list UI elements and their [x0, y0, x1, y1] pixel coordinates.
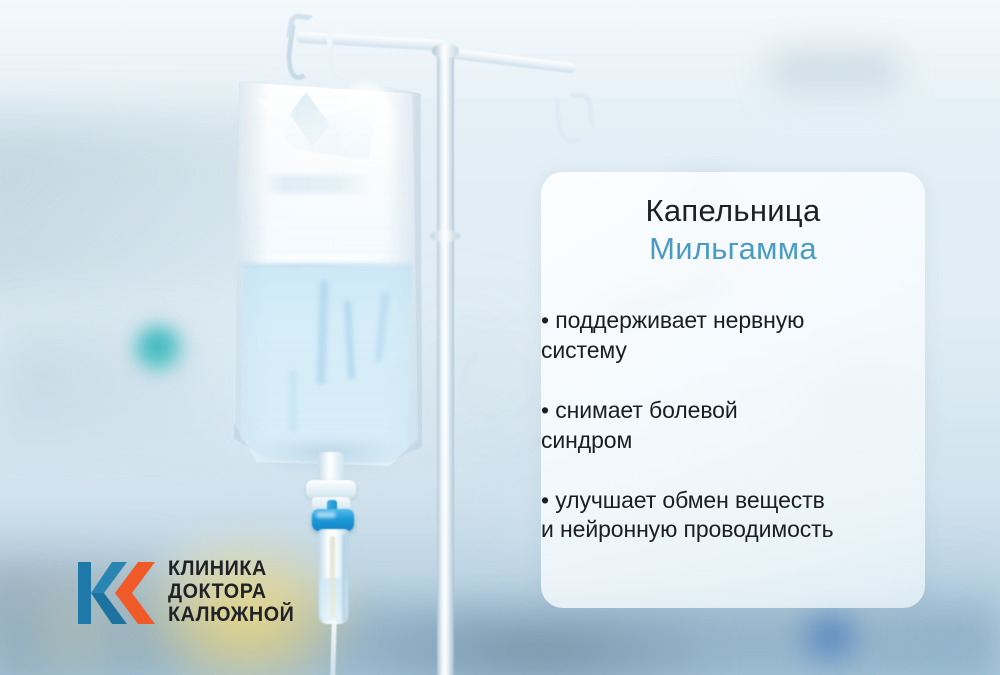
drip-chamber-edge [342, 534, 346, 622]
background-equipment-top-right [770, 55, 900, 97]
card-title-drug-name: Мильгамма [541, 230, 925, 268]
promo-banner: Капельница Мильгамма • поддерживает нерв… [0, 0, 1000, 675]
background-panel-left-lower [0, 330, 210, 440]
background-shadow-bottom [380, 618, 700, 675]
clinic-logo-text: КЛИНИКА ДОКТОРА КАЛЮЖНОЙ [168, 558, 302, 627]
iv-bag-fluid-streak [290, 370, 296, 432]
benefit-list: • поддерживает нервную систему • снимает… [541, 306, 939, 545]
drip-chamber-inner-tube [330, 536, 335, 618]
card-heading: Капельница Мильгамма [541, 192, 925, 269]
iv-bag-seam [248, 255, 408, 261]
list-item: • снимает болевой синдром [541, 396, 939, 456]
kk-monogram-icon [78, 560, 156, 626]
iv-bag-embossed-label [262, 175, 372, 193]
card-title-primary: Капельница [541, 192, 925, 230]
logo-line-1: КЛИНИКА [168, 558, 294, 579]
drip-chamber-cap-highlight [316, 512, 336, 518]
list-item: • поддерживает нервную систему [541, 306, 939, 366]
clinic-logo[interactable]: КЛИНИКА ДОКТОРА КАЛЮЖНОЙ [78, 558, 302, 627]
iv-bag-fluid-level [243, 264, 411, 267]
logo-line-3: КАЛЮЖНОЙ [168, 604, 294, 625]
list-item: • улучшает обмен веществ и нейронную про… [541, 486, 939, 546]
logo-line-2: ДОКТОРА [168, 581, 294, 602]
